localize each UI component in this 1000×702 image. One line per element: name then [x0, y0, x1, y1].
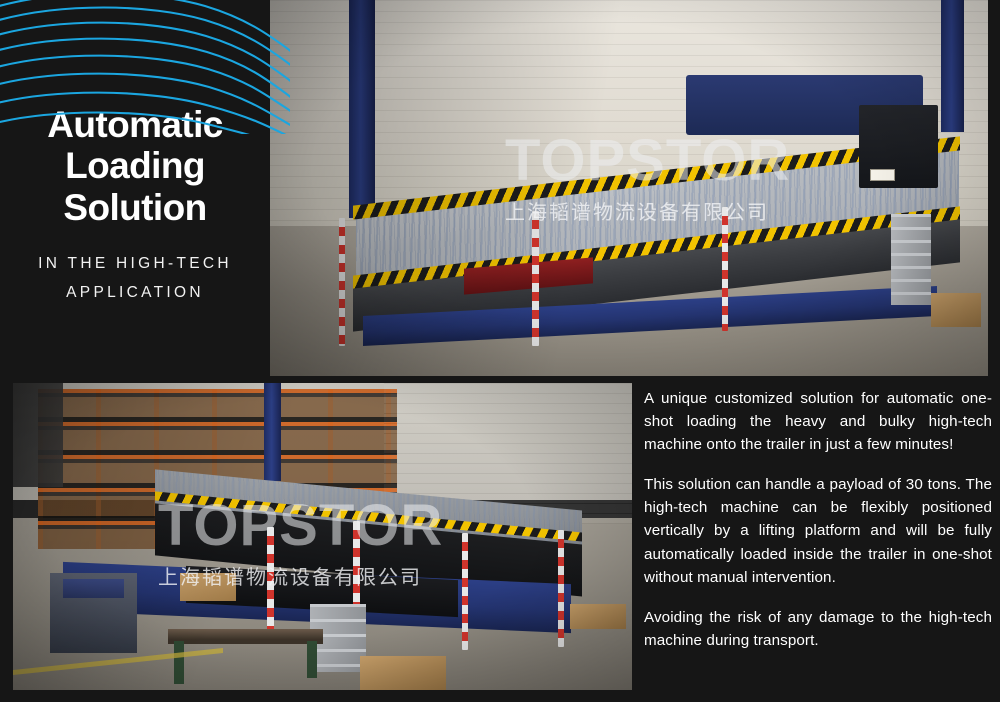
description-paragraph-1: A unique customized solution for automat… [644, 387, 992, 456]
subtitle-line-2: APPLICATION [10, 279, 260, 308]
photo-bottom-scene [13, 383, 632, 690]
hero-panel: Automatic Loading Solution IN THE HIGH-T… [0, 0, 270, 376]
page-title: Automatic Loading Solution [15, 104, 255, 228]
description-paragraph-2: This solution can handle a payload of 30… [644, 473, 992, 588]
warehouse-platform-photo-bottom [13, 383, 632, 690]
photo-top-scene [270, 0, 988, 376]
title-line-1: Automatic [15, 104, 255, 145]
photo-bottom-vignette [13, 383, 632, 690]
poster-canvas: TOPSTOR 上海韬谱物流设备有限公司 Automatic Loading S… [0, 0, 1000, 702]
title-line-2: Loading [15, 145, 255, 186]
page-subtitle: IN THE HIGH-TECH APPLICATION [10, 250, 260, 307]
title-line-3: Solution [15, 187, 255, 228]
subtitle-line-1: IN THE HIGH-TECH [10, 250, 260, 279]
description-paragraph-3: Avoiding the risk of any damage to the h… [644, 606, 992, 652]
photo-top-vignette [270, 0, 988, 376]
loading-platform-photo-top [270, 0, 988, 376]
description-text-block: A unique customized solution for automat… [644, 387, 992, 687]
